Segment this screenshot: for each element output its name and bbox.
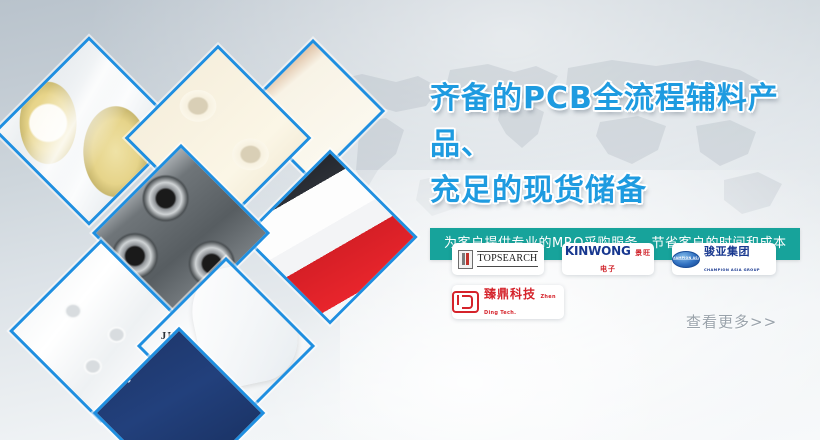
logo-champion-asia[interactable]: CHAMPION ASIA 骏亚集团 CHAMPION ASIA GROUP xyxy=(672,243,776,275)
globe-icon: CHAMPION ASIA xyxy=(672,251,700,268)
headline-line-2: 充足的现货储备 xyxy=(430,168,810,214)
champion-asia-label-en: CHAMPION ASIA GROUP xyxy=(704,268,760,272)
zhending-icon xyxy=(452,291,479,313)
champion-asia-label-cn: 骏亚集团 xyxy=(704,245,750,258)
banner-copy: 齐备的PCB全流程辅料产品、 充足的现货储备 为客户提供专业的MRO采购服务，节… xyxy=(430,76,810,260)
logo-zhen-ding[interactable]: 臻鼎科技 Zhen Ding Tech. xyxy=(452,285,564,319)
promo-banner: JIE 齐备的PCB全流程辅料产品、 充足的现货储备 为客户提供专业的MRO采购… xyxy=(0,0,820,440)
banner-headline: 齐备的PCB全流程辅料产品、 充足的现货储备 xyxy=(430,76,810,214)
logo-topsearch[interactable]: TOPSEARCH xyxy=(452,243,544,275)
product-tile-collage: JIE xyxy=(0,0,430,440)
kinwong-label: KINWONG xyxy=(565,244,631,258)
globe-icon-label: CHAMPION ASIA xyxy=(672,257,700,260)
logo-kinwong[interactable]: KINWONG 景旺电子 xyxy=(562,243,654,275)
zhen-ding-label-cn: 臻鼎科技 xyxy=(484,287,536,301)
topsearch-label: TOPSEARCH xyxy=(477,251,539,267)
partner-logo-row-1: TOPSEARCH KINWONG 景旺电子 CHAMPION ASIA 骏亚集… xyxy=(452,243,802,275)
headline-line-1: 齐备的PCB全流程辅料产品、 xyxy=(430,81,779,162)
view-more-link[interactable]: 查看更多>> xyxy=(686,315,777,330)
topsearch-icon xyxy=(458,250,473,269)
